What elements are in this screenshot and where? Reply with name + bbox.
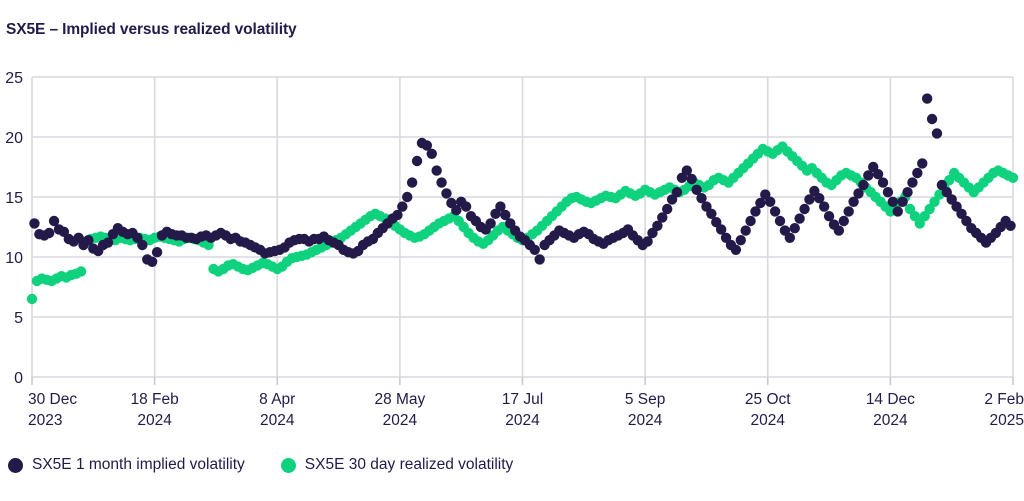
x-axis-tick-label-date: 8 Apr <box>259 391 295 408</box>
chart-legend: SX5E 1 month implied volatility SX5E 30 … <box>8 450 513 480</box>
volatility-scatter-chart: SX5E – Implied versus realized volatilit… <box>0 0 1024 501</box>
gridlines <box>32 77 1013 377</box>
x-axis-tick-label-year: 2024 <box>751 412 786 429</box>
x-axis-tick-labels: 30 Dec202318 Feb20248 Apr202428 May20241… <box>28 391 1024 429</box>
data-point-implied <box>137 240 147 250</box>
y-axis-tick-label: 20 <box>5 130 23 147</box>
x-axis-tick-label-date: 2 Feb <box>984 391 1024 408</box>
data-point-implied <box>44 228 54 238</box>
data-point-implied <box>917 158 927 168</box>
data-point-implied <box>736 235 746 245</box>
data-point-implied <box>893 206 903 216</box>
data-point-implied <box>402 192 412 202</box>
data-point-implied <box>790 223 800 233</box>
data-point-implied <box>687 174 697 184</box>
data-point-implied <box>534 254 544 264</box>
data-point-implied <box>794 213 804 223</box>
data-point-implied <box>412 156 422 166</box>
data-point-implied <box>799 204 809 214</box>
data-point-implied <box>530 245 540 255</box>
x-axis-tick-label-year: 2023 <box>28 412 62 429</box>
data-point-implied <box>888 197 898 207</box>
legend-label-realized: SX5E 30 day realized volatility <box>305 457 514 473</box>
data-point-implied <box>878 177 888 187</box>
y-axis-tick-label: 0 <box>14 370 23 387</box>
data-point-implied <box>740 225 750 235</box>
data-point-implied <box>883 187 893 197</box>
x-axis-tick-label-year: 2024 <box>873 412 908 429</box>
data-point-implied <box>907 177 917 187</box>
y-axis-tick-label: 15 <box>5 190 23 207</box>
data-point-implied <box>397 201 407 211</box>
y-axis-tick-label: 5 <box>14 310 23 327</box>
data-point-implied <box>819 201 829 211</box>
plot-area: 0510152025 30 Dec202318 Feb20248 Apr2024… <box>0 0 1024 440</box>
data-point-implied <box>902 187 912 197</box>
data-point-implied <box>147 257 157 267</box>
legend-swatch-implied-icon <box>8 458 23 473</box>
data-point-implied <box>461 201 471 211</box>
x-axis-tick-label-year: 2024 <box>505 412 540 429</box>
data-point-implied <box>775 216 785 226</box>
x-axis-tick-label-date: 25 Oct <box>745 391 791 408</box>
x-axis-tick-label-date: 14 Dec <box>866 391 915 408</box>
y-axis-tick-label: 25 <box>5 70 23 87</box>
data-point-implied <box>662 204 672 214</box>
legend-item-realized[interactable]: SX5E 30 day realized volatility <box>281 457 514 473</box>
x-axis-tick-label-date: 28 May <box>374 391 425 408</box>
data-point-implied <box>927 114 937 124</box>
data-point-implied <box>152 247 162 257</box>
data-point-realized <box>76 266 86 276</box>
x-axis-tick-label-date: 17 Jul <box>502 391 543 408</box>
data-point-implied <box>427 149 437 159</box>
legend-label-implied: SX5E 1 month implied volatility <box>32 457 245 473</box>
data-point-implied <box>436 177 446 187</box>
data-point-implied <box>843 206 853 216</box>
data-point-implied <box>29 218 39 228</box>
x-axis-tick-label-year: 2024 <box>260 412 295 429</box>
plot-svg: 0510152025 30 Dec202318 Feb20248 Apr2024… <box>0 0 1024 440</box>
data-point-implied <box>485 218 495 228</box>
data-point-implied <box>672 187 682 197</box>
data-point-realized <box>27 294 37 304</box>
x-axis-tick-label-year: 2024 <box>383 412 418 429</box>
data-point-implied <box>834 225 844 235</box>
data-point-implied <box>770 206 780 216</box>
data-point-implied <box>858 180 868 190</box>
x-axis-tick-label-year: 2025 <box>990 412 1024 429</box>
x-axis-tick-marks <box>32 377 1013 385</box>
data-point-implied <box>839 216 849 226</box>
data-point-implied <box>1005 221 1015 231</box>
data-point-implied <box>431 165 441 175</box>
data-point-implied <box>441 188 451 198</box>
x-axis-tick-label-date: 5 Sep <box>625 391 666 408</box>
legend-swatch-realized-icon <box>281 458 296 473</box>
data-point-implied <box>932 128 942 138</box>
data-point-implied <box>785 233 795 243</box>
x-axis-tick-label-date: 18 Feb <box>130 391 178 408</box>
legend-item-implied[interactable]: SX5E 1 month implied volatility <box>8 457 245 473</box>
data-point-implied <box>731 245 741 255</box>
data-point-implied <box>407 177 417 187</box>
x-axis-tick-label-year: 2024 <box>137 412 172 429</box>
data-point-implied <box>765 197 775 207</box>
data-point-implied <box>897 197 907 207</box>
data-point-realized <box>1008 173 1018 183</box>
y-axis-tick-label: 10 <box>5 250 23 267</box>
data-point-implied <box>922 93 932 103</box>
x-axis-tick-label-date: 30 Dec <box>28 391 77 408</box>
x-axis-tick-label-year: 2024 <box>628 412 663 429</box>
data-point-implied <box>912 168 922 178</box>
y-axis-tick-labels: 0510152025 <box>5 70 23 387</box>
data-point-implied <box>745 216 755 226</box>
